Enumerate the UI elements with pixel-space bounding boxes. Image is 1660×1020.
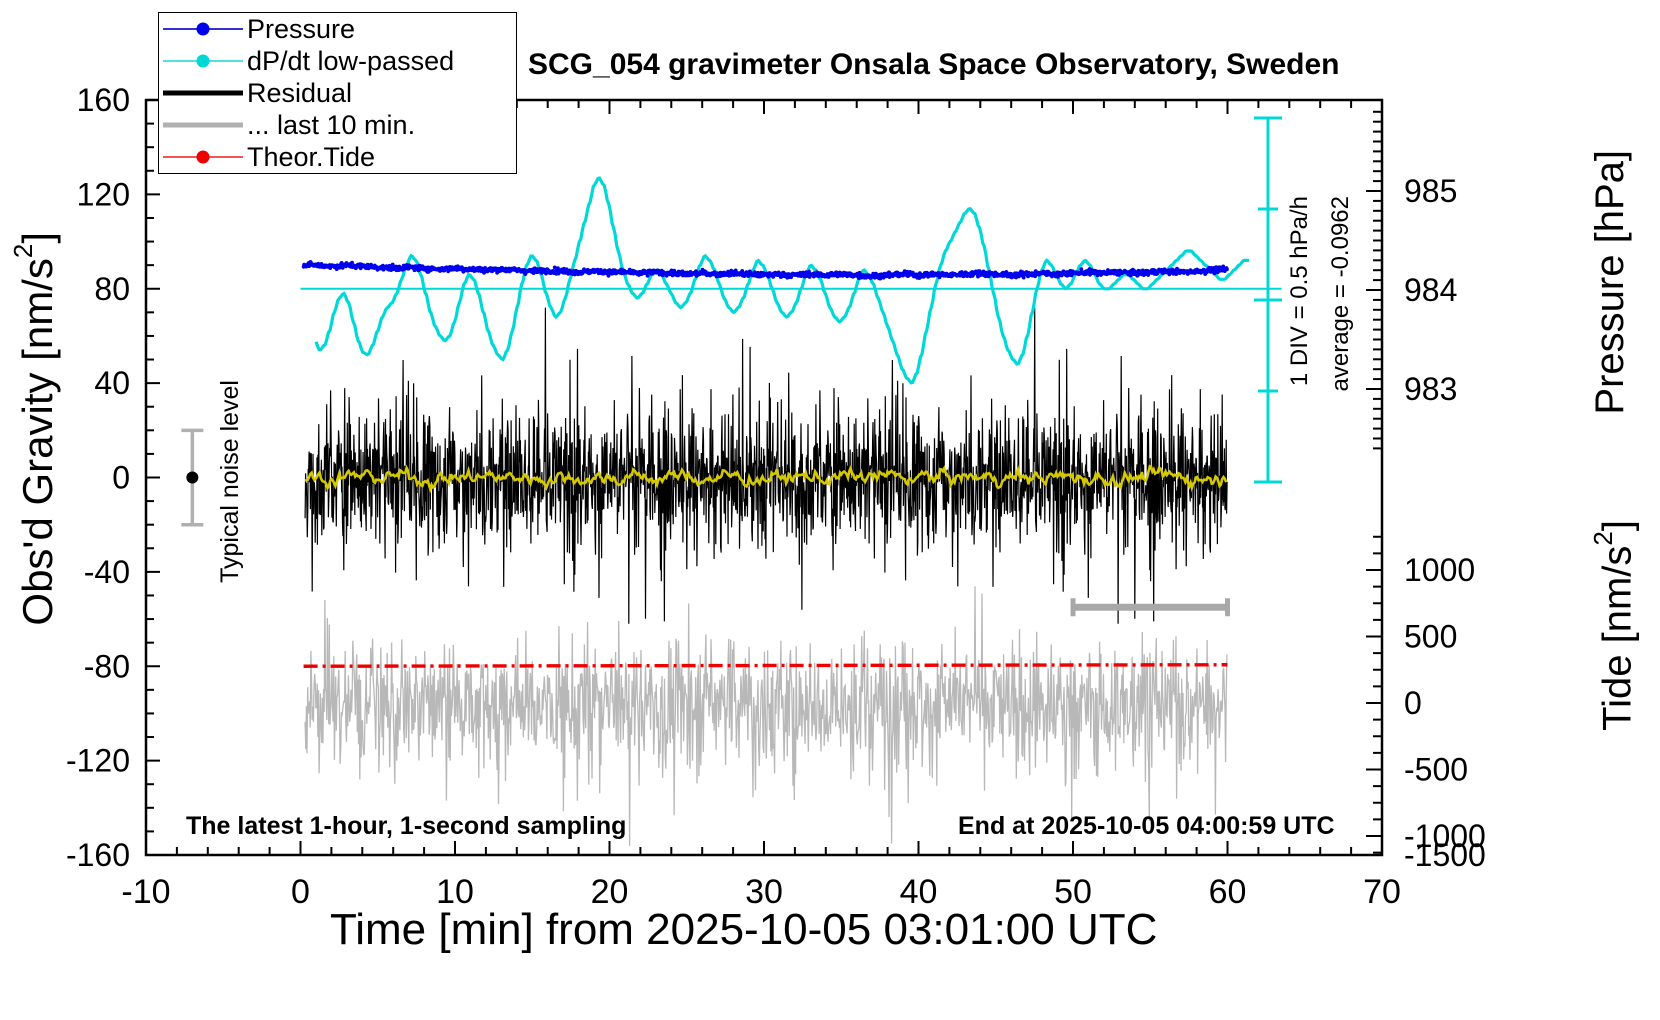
legend-swatch-tide [159, 141, 247, 173]
dpdt-scale-bar [1254, 118, 1282, 482]
svg-text:-10: -10 [121, 873, 170, 911]
series-dpdt-lowpassed [301, 178, 1282, 383]
svg-text:0: 0 [112, 460, 130, 496]
svg-text:40: 40 [94, 365, 130, 401]
dpdt-average-label: average = -0.0962 [1327, 196, 1355, 391]
last-10-min-span-bar [1073, 598, 1228, 616]
svg-text:160: 160 [77, 82, 130, 118]
svg-text:60: 60 [1209, 873, 1247, 911]
legend-item-dpdt: dP/dt low-passed [159, 45, 516, 77]
chart-title: SCG_054 gravimeter Onsala Space Observat… [528, 48, 1340, 82]
svg-text:120: 120 [77, 176, 130, 212]
dpdt-scale-label: 1 DIV = 0.5 hPa/h [1286, 196, 1314, 386]
legend-item-residual: Residual [159, 77, 516, 109]
typical-noise-level-label: Typical noise level [216, 380, 245, 583]
end-time-note: End at 2025-10-05 04:00:59 UTC [958, 812, 1335, 841]
svg-text:30: 30 [745, 873, 783, 911]
legend-label-dpdt: dP/dt low-passed [247, 46, 454, 77]
legend-item-pressure: Pressure [159, 13, 516, 45]
legend-swatch-pressure [159, 13, 247, 45]
svg-text:-160: -160 [66, 837, 130, 873]
legend-label-last10: ... last 10 min. [247, 110, 415, 141]
legend-label-pressure: Pressure [247, 14, 355, 45]
legend-item-tide: Theor.Tide [159, 141, 516, 173]
svg-text:20: 20 [591, 873, 629, 911]
legend-swatch-residual [159, 77, 247, 109]
svg-text:10: 10 [436, 873, 474, 911]
series-residual [305, 308, 1227, 624]
legend-label-tide: Theor.Tide [247, 142, 375, 173]
svg-text:50: 50 [1054, 873, 1092, 911]
series-theoretical-tide [304, 665, 1228, 667]
legend-swatch-dpdt [159, 45, 247, 77]
svg-text:984: 984 [1404, 272, 1457, 308]
sampling-note: The latest 1-hour, 1-second sampling [186, 812, 626, 841]
svg-text:-80: -80 [84, 648, 130, 684]
svg-text:983: 983 [1404, 371, 1457, 407]
svg-text:70: 70 [1363, 873, 1401, 911]
svg-text:985: 985 [1404, 173, 1457, 209]
series-last-10-min [305, 586, 1227, 846]
svg-text:500: 500 [1404, 619, 1457, 655]
typical-noise-level-marker [181, 430, 203, 524]
svg-text:-500: -500 [1404, 752, 1468, 788]
svg-text:1000: 1000 [1404, 552, 1475, 588]
svg-text:0: 0 [1404, 685, 1422, 721]
legend-label-residual: Residual [247, 78, 352, 109]
svg-text:-1500: -1500 [1404, 837, 1486, 873]
legend-item-last10: ... last 10 min. [159, 109, 516, 141]
svg-text:-120: -120 [66, 743, 130, 779]
svg-text:40: 40 [900, 873, 938, 911]
svg-text:0: 0 [291, 873, 310, 911]
legend-swatch-last10 [159, 109, 247, 141]
legend: Pressure dP/dt low-passed Residual ... l… [158, 12, 517, 174]
svg-text:80: 80 [94, 271, 130, 307]
svg-text:-40: -40 [84, 554, 130, 590]
